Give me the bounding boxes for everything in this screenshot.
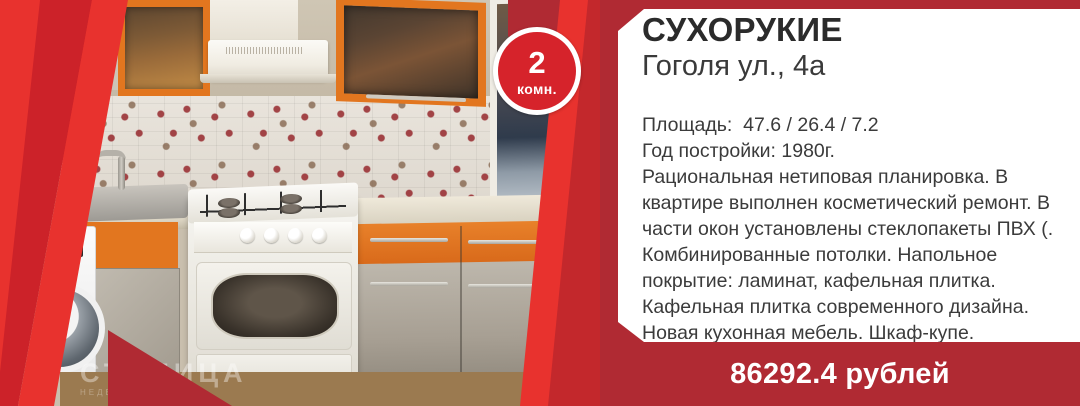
drawer-pull [370,238,448,242]
property-listing-card: СТОЛИЦА НЕДВИЖИМОСТЬ 2 комн. СУХОРУКИЕ Г… [0,0,1080,406]
upper-cabinet-white [210,0,298,44]
cabinet-glass-pane [125,7,203,89]
listing-area: Площадь: 47.6 / 26.4 / 7.2 [642,112,1054,138]
top-accent-bar [600,0,1080,9]
stove-knob [240,228,255,243]
listing-price: 86292.4 рублей [730,358,950,391]
faucet [118,156,125,190]
oven-window [211,273,339,339]
room-count-unit: комн. [498,82,576,96]
upper-glass-cabinet-left [118,0,210,96]
listing-title: СУХОРУКИЕ [642,13,1042,48]
cabinet-pull [370,282,448,286]
listing-year-built: Год постройки: 1980г. [642,138,1054,164]
listing-description: Рациональная нетиповая планировка. В ква… [642,164,1054,346]
drawer-pull [468,240,540,244]
listing-info-panel: СУХОРУКИЕ Гоголя ул., 4а Площадь: 47.6 /… [600,0,1080,406]
listing-details: Площадь: 47.6 / 26.4 / 7.2 Год постройки… [642,112,1054,346]
stove-knob [288,228,303,243]
listing-address: Гоголя ул., 4а [642,50,1042,83]
cabinet-glass-pane [344,5,478,98]
price-banner: 86292.4 рублей [600,342,1080,406]
room-count-badge: 2 комн. [493,27,581,115]
stove-knob [264,228,279,243]
cabinet-pull [468,284,540,288]
cabinet-seam [460,226,462,386]
room-count-number: 2 [498,47,576,78]
upper-glass-cabinet-right [336,0,486,107]
stove-knob [312,228,327,243]
range-hood-lip [200,74,336,83]
oven-door [196,262,352,350]
listing-headings: СУХОРУКИЕ Гоголя ул., 4а [642,13,1042,83]
